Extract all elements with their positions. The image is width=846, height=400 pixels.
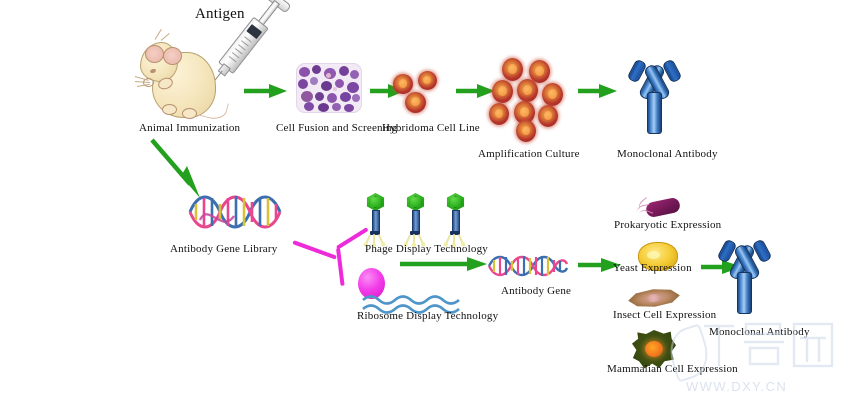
red-cell-cluster-icon	[492, 58, 570, 140]
watermark: WWW.DXY.CN	[672, 310, 840, 396]
antigen-label: Antigen	[195, 6, 245, 23]
phage-icon	[365, 193, 473, 241]
arrow-right-icon	[399, 255, 489, 273]
arrow-right-icon	[455, 82, 497, 100]
yeast-expression-label: Yeast Expression	[613, 262, 692, 274]
phage-display-label: Phage Display Technology	[365, 243, 488, 255]
red-cells-icon	[393, 67, 449, 115]
watermark-url: WWW.DXY.CN	[686, 379, 787, 394]
prokaryotic-expression-label: Prokaryotic Expression	[614, 219, 721, 231]
antibody-y-icon	[626, 58, 682, 134]
monoclonal-antibody-top-label: Monoclonal Antibody	[617, 148, 718, 160]
mouse-icon	[140, 30, 235, 125]
insect-cell-icon	[627, 285, 681, 310]
arrow-right-icon	[243, 82, 289, 100]
diagram-canvas: Antigen	[0, 0, 846, 400]
dna-helix-icon	[186, 186, 284, 234]
bacterium-icon	[634, 198, 684, 218]
dna-helix-icon	[487, 252, 569, 280]
cell-fusion-label: Cell Fusion and Screening	[276, 122, 397, 134]
ribosome-display-label: Ribosome Display Technology	[357, 310, 498, 322]
antibody-gene-label: Antibody Gene	[501, 285, 571, 297]
amplification-label: Amplification Culture	[478, 148, 580, 160]
animal-immunization-label: Animal Immunization	[139, 122, 240, 134]
stained-tissue-icon	[296, 63, 362, 113]
arrow-right-icon	[577, 82, 619, 100]
ribosome-icon	[358, 268, 488, 312]
antibody-y-icon	[716, 238, 772, 314]
antibody-gene-library-label: Antibody Gene Library	[170, 243, 277, 255]
hybridoma-label: Hybridoma Cell Line	[382, 122, 480, 134]
